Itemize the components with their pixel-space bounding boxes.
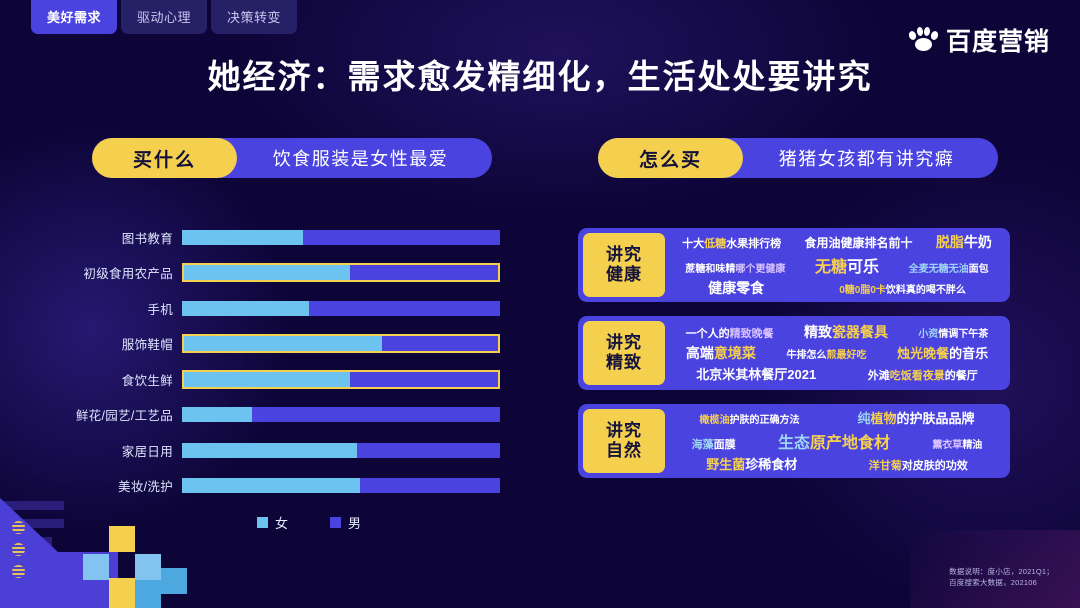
chart-row-label: 鲜花/园艺/工艺品 [60,405,182,424]
chart-row: 美妆/洗护 [60,471,530,501]
keyword-phrase[interactable]: 精致瓷器餐具 [804,322,888,342]
keyword-text: 海藻 [692,439,714,451]
keyword-phrase[interactable]: 高端意境菜 [686,343,756,363]
chart-row-label: 美妆/洗护 [60,476,182,495]
keyword-phrase[interactable]: 小资情调下午茶 [918,324,988,342]
footnote-line-1: 数据说明：度小店，2021Q1； [949,566,1054,577]
keyword-text: 蔗糖和味精 [685,264,735,275]
tab-0[interactable]: 美好需求 [31,0,117,34]
keyword-text: 全麦无糖无油 [909,264,969,275]
keyword-text: 的音乐 [949,346,988,361]
card-body-1: 一个人的精致晚餐精致瓷器餐具小资情调下午茶高端意境菜牛排怎么煎最好吃烛光晚餐的音… [670,316,1010,390]
square-decor [109,578,135,608]
page-title: 她经济：需求愈发精细化，生活处处要讲究 [0,50,1080,98]
keyword-text: 橄榄油 [699,415,729,426]
section-subtitle-right: 猪猪女孩都有讲究癖 [743,145,998,171]
keyword-text: 护肤的正确方法 [729,415,799,426]
chart-legend: 女男 [60,513,530,532]
card-tag-0: 讲究健康 [583,233,665,297]
footnote-line-2: 百度搜索大数据，202106 [949,577,1054,588]
keyword-text: 瓷器餐具 [832,324,888,340]
corner-block [0,552,118,608]
square-decor [135,580,161,608]
chart-bar [182,263,500,282]
keyword-phrase[interactable]: 海藻面膜 [692,435,736,453]
keyword-text: 的餐厅 [945,370,978,382]
section-header-right: 怎么买 猪猪女孩都有讲究癖 [598,138,998,178]
keyword-text: 精致晚餐 [730,328,774,340]
keyword-card-2[interactable]: 讲究自然橄榄油护肤的正确方法纯植物的护肤品品牌海藻面膜生态原产地食材薰衣草精油野… [578,404,1010,478]
keyword-text: 吃饭看夜景 [890,370,945,382]
dotted-circle-icon [12,521,25,534]
keyword-text: 意境菜 [714,345,756,361]
keyword-phrase[interactable]: 洋甘菊对皮肤的功效 [869,456,968,474]
chart-bar-segment-female [184,336,382,351]
chart-bar-segment-female [184,372,350,387]
keyword-phrase[interactable]: 无糖可乐 [815,253,879,277]
chart-bar [182,370,500,389]
chart-row: 家居日用 [60,435,530,465]
keyword-phrase[interactable]: 野生菌珍稀食材 [706,454,797,474]
stripe-decor [0,519,64,528]
section-subtitle-left: 饮食服装是女性最爱 [237,145,492,171]
keyword-text: 烛光晚餐 [897,346,949,361]
chart-bar-segment-male [350,265,498,280]
chart-row-label: 服饰鞋帽 [60,334,182,353]
chart-bar [182,407,500,422]
square-decor [161,568,187,594]
chart-bar [182,301,500,316]
section-pill-how-to-buy[interactable]: 怎么买 [598,138,743,178]
chart-row: 初级食用农产品 [60,258,530,288]
card-tag-2: 讲究自然 [583,409,665,473]
keyword-phrase[interactable]: 健康零食 [708,278,764,298]
keyword-phrase[interactable]: 生态原产地食材 [778,429,890,453]
keyword-text: 无糖 [815,259,847,276]
chart-bar-segment-male [303,230,500,245]
keyword-phrase[interactable]: 脱脂牛奶 [936,232,992,252]
keyword-text: 低糖 [704,238,726,250]
keyword-text: 牛排怎么 [786,350,826,361]
keyword-phrase[interactable]: 北京米其林餐厅2021 [696,364,816,384]
chart-row: 鲜花/园艺/工艺品 [60,400,530,430]
card-tag-line-1: 讲究 [606,421,642,441]
keyword-text: 珍稀食材 [745,457,797,472]
chart-bar-segment-female [182,478,360,493]
chart-row: 服饰鞋帽 [60,329,530,359]
chart-row-label: 家居日用 [60,441,182,460]
glow-top [240,0,880,210]
chart-bar-segment-female [182,230,303,245]
tab-bar: 美好需求驱动心理决策转变 [31,0,297,34]
square-decor [135,554,161,580]
chart-row: 手机 [60,293,530,323]
section-pill-buy-what[interactable]: 买什么 [92,138,237,178]
keyword-text: 情调下午茶 [938,329,988,340]
tab-2[interactable]: 决策转变 [211,0,297,34]
keyword-phrase[interactable]: 薰衣草精油 [932,435,982,453]
keyword-text: 可乐 [847,259,879,276]
keyword-text: 十大 [682,238,704,250]
chart-bar-segment-male [350,372,498,387]
keyword-phrase[interactable]: 0糖0脂0卡饮料真的喝不胖么 [839,280,966,298]
chart-bar-segment-male [357,443,500,458]
keyword-text: 煎最好吃 [826,350,866,361]
keyword-phrase[interactable]: 一个人的精致晚餐 [686,324,774,342]
chart-row-label: 手机 [60,299,182,318]
card-tag-line-1: 讲究 [606,245,642,265]
keyword-text: 对皮肤的功效 [902,460,968,472]
chart-bar-segment-male [360,478,500,493]
card-tag-line-2: 自然 [606,441,642,461]
keyword-text: 植物 [870,411,896,426]
keyword-line: 健康零食0糖0脂0卡饮料真的喝不胖么 [674,278,1000,298]
keyword-phrase[interactable]: 全麦无糖无油面包 [909,259,989,277]
keyword-text: 野生菌 [706,457,745,472]
keyword-card-1[interactable]: 讲究精致一个人的精致晚餐精致瓷器餐具小资情调下午茶高端意境菜牛排怎么煎最好吃烛光… [578,316,1010,390]
legend-label: 男 [348,513,361,532]
card-body-0: 十大低糖水果排行榜食用油健康排名前十脱脂牛奶蔗糖和味精哪个更健康无糖可乐全麦无糖… [670,228,1010,302]
chart-bar-segment-female [182,407,252,422]
dotted-circle-icon [12,543,25,556]
keyword-text: 北京米其林餐厅2021 [696,367,816,382]
keyword-text: 水果排行榜 [726,238,781,250]
card-tag-line-1: 讲究 [606,333,642,353]
keyword-phrase[interactable]: 橄榄油护肤的正确方法 [699,410,799,428]
keyword-text: 小资 [918,329,938,340]
keyword-text: 脱脂 [936,234,964,250]
chart-bar-segment-female [182,301,309,316]
keyword-text: 精致 [804,324,832,340]
keyword-phrase[interactable]: 十大低糖水果排行榜 [682,234,781,252]
chart-bar-segment-female [184,265,350,280]
keyword-text: 饮料真的喝不胖么 [886,285,966,296]
keyword-line: 一个人的精致晚餐精致瓷器餐具小资情调下午茶 [674,322,1000,342]
chart-row-label: 初级食用农产品 [60,263,182,282]
keyword-text: 面包 [969,264,989,275]
keyword-line: 十大低糖水果排行榜食用油健康排名前十脱脂牛奶 [674,232,1000,252]
chart-bar-segment-female [182,443,357,458]
keyword-line: 北京米其林餐厅2021外滩吃饭看夜景的餐厅 [674,364,1000,384]
footnote: 数据说明：度小店，2021Q1； 百度搜索大数据，202106 [949,566,1054,589]
square-decor [83,554,109,580]
chart-bar [182,443,500,458]
keyword-text: 哪个更健康 [735,264,785,275]
stripe-decor [0,537,52,546]
keyword-text: 原产地食材 [810,435,890,452]
keyword-text: 0糖0脂0卡 [839,285,886,296]
card-tag-line-2: 精致 [606,353,642,373]
stripe-decor [0,501,64,510]
keyword-phrase[interactable]: 食用油健康排名前十 [804,234,912,252]
keyword-cards: 讲究健康十大低糖水果排行榜食用油健康排名前十脱脂牛奶蔗糖和味精哪个更健康无糖可乐… [578,228,1010,492]
keyword-phrase[interactable]: 蔗糖和味精哪个更健康 [685,259,785,277]
keyword-phrase[interactable]: 牛排怎么煎最好吃 [786,345,866,363]
legend-item-0: 女 [257,513,288,532]
chart-rows: 图书教育初级食用农产品手机服饰鞋帽食饮生鲜鲜花/园艺/工艺品家居日用美妆/洗护 [60,222,530,501]
stacked-bar-chart: 图书教育初级食用农产品手机服饰鞋帽食饮生鲜鲜花/园艺/工艺品家居日用美妆/洗护 … [60,222,530,512]
keyword-text: 外滩 [868,370,890,382]
card-tag-1: 讲究精致 [583,321,665,385]
keyword-text: 精油 [962,440,982,451]
tab-1[interactable]: 驱动心理 [121,0,207,34]
keyword-phrase[interactable]: 外滩吃饭看夜景的餐厅 [868,366,978,384]
keyword-card-0[interactable]: 讲究健康十大低糖水果排行榜食用油健康排名前十脱脂牛奶蔗糖和味精哪个更健康无糖可乐… [578,228,1010,302]
legend-swatch-icon [257,517,268,528]
keyword-text: 薰衣草 [932,440,962,451]
keyword-line: 橄榄油护肤的正确方法纯植物的护肤品品牌 [674,408,1000,428]
keyword-text: 的护肤品品牌 [896,411,974,426]
keyword-text: 生态 [778,435,810,452]
keyword-text: 洋甘菊 [869,460,902,472]
legend-item-1: 男 [330,513,361,532]
legend-swatch-icon [330,517,341,528]
chart-bar-segment-male [252,407,500,422]
keyword-text: 健康零食 [708,280,764,296]
keyword-text: 纯 [857,411,870,426]
keyword-line: 海藻面膜生态原产地食材薰衣草精油 [674,429,1000,453]
chart-bar [182,230,500,245]
dotted-circle-icon [12,565,25,578]
keyword-phrase[interactable]: 烛光晚餐的音乐 [897,343,988,363]
keyword-text: 面膜 [714,439,736,451]
chart-row-label: 食饮生鲜 [60,370,182,389]
chart-row-label: 图书教育 [60,228,182,247]
chart-bar-segment-male [382,336,498,351]
keyword-text: 一个人的 [686,328,730,340]
keyword-phrase[interactable]: 纯植物的护肤品品牌 [857,408,974,428]
keyword-line: 蔗糖和味精哪个更健康无糖可乐全麦无糖无油面包 [674,253,1000,277]
keyword-text: 牛奶 [964,234,992,250]
chart-row: 食饮生鲜 [60,364,530,394]
card-tag-line-2: 健康 [606,265,642,285]
keyword-text: 高端 [686,345,714,361]
legend-label: 女 [275,513,288,532]
card-body-2: 橄榄油护肤的正确方法纯植物的护肤品品牌海藻面膜生态原产地食材薰衣草精油野生菌珍稀… [670,404,1010,478]
keyword-text: 食用油健康排名前十 [804,236,912,250]
chart-row: 图书教育 [60,222,530,252]
section-header-left: 买什么 饮食服装是女性最爱 [92,138,492,178]
chart-bar-segment-male [309,301,500,316]
keyword-line: 高端意境菜牛排怎么煎最好吃烛光晚餐的音乐 [674,343,1000,363]
chart-bar [182,478,500,493]
chart-bar [182,334,500,353]
keyword-line: 野生菌珍稀食材洋甘菊对皮肤的功效 [674,454,1000,474]
